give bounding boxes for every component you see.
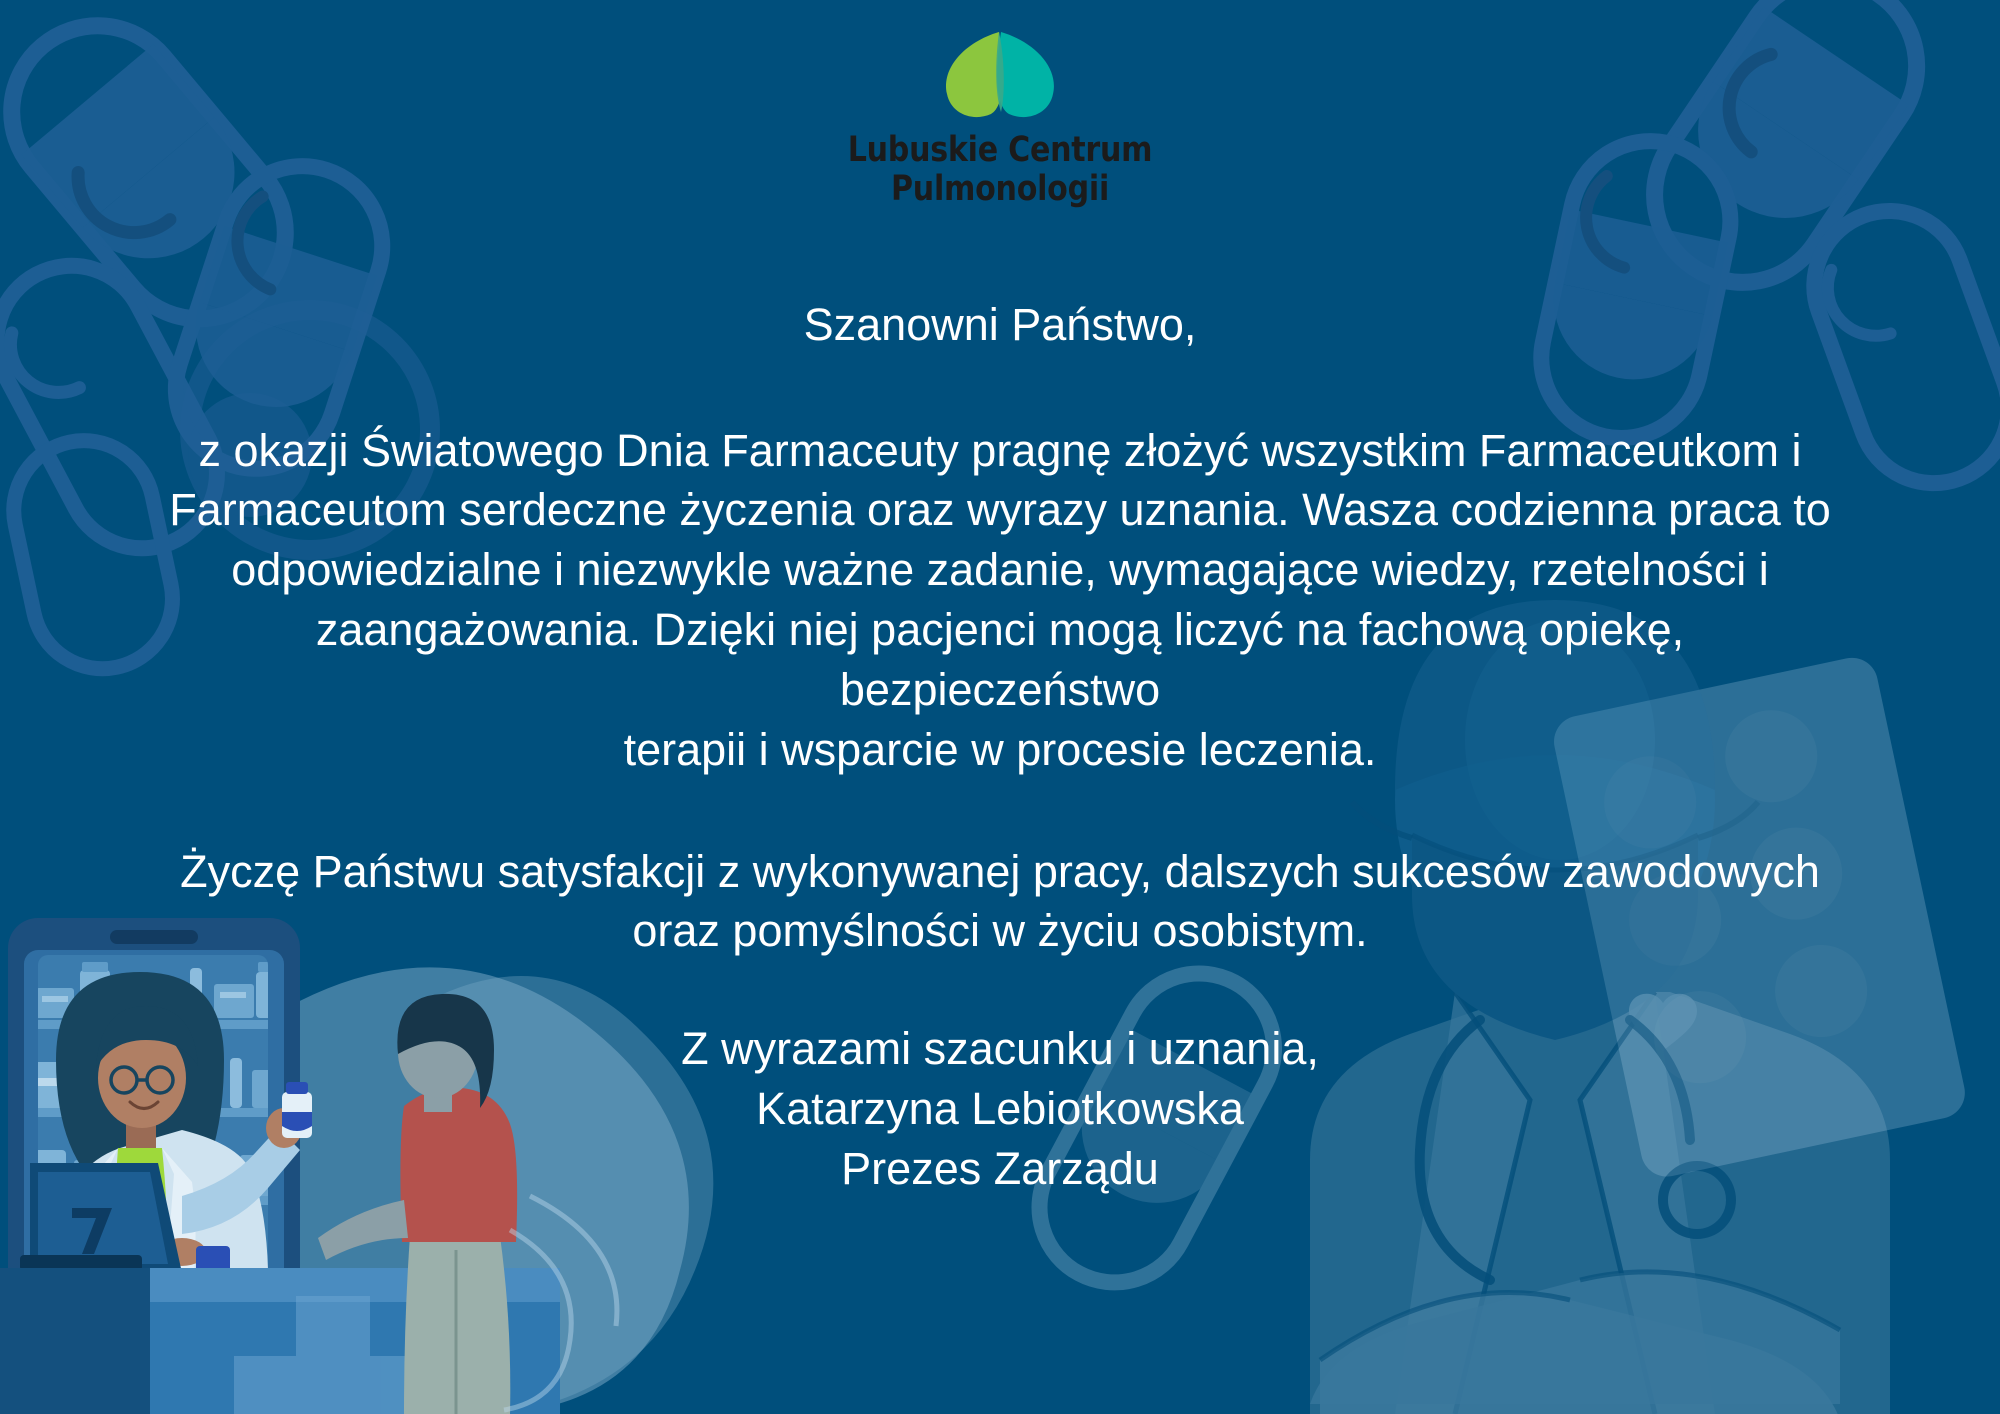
paragraph-1: z okazji Światowego Dnia Farmaceuty prag…: [150, 421, 1850, 780]
paragraph-1-line-1: z okazji Światowego Dnia Farmaceuty prag…: [150, 421, 1850, 481]
logo-line-1: Lubuskie Centrum: [140, 131, 1860, 170]
greeting-card: Lubuskie Centrum Pulmonologii Szanowni P…: [0, 0, 2000, 1414]
paragraph-2: Życzę Państwu satysfakcji z wykonywanej …: [150, 842, 1850, 962]
paragraph-1-line-3: odpowiedzialne i niezwykle ważne zadanie…: [150, 540, 1850, 600]
greeting-line: Szanowni Państwo,: [70, 296, 1930, 355]
paragraph-2-line-1: Życzę Państwu satysfakcji z wykonywanej …: [150, 842, 1850, 902]
paragraph-1-line-4: zaangażowania. Dzięki niej pacjenci mogą…: [150, 600, 1850, 720]
medical-cross-icon: [234, 1296, 432, 1414]
signature-block: Z wyrazami szacunku i uznania, Katarzyna…: [150, 1019, 1850, 1199]
signature-name: Katarzyna Lebiotkowska: [150, 1079, 1850, 1139]
logo-line-2: Pulmonologii: [140, 170, 1860, 209]
logo: Lubuskie Centrum Pulmonologii: [0, 26, 2000, 209]
signature-closing: Z wyrazami szacunku i uznania,: [150, 1019, 1850, 1079]
signature-title: Prezes Zarządu: [150, 1139, 1850, 1199]
paragraph-1-line-5: terapii i wsparcie w procesie leczenia.: [150, 720, 1850, 780]
lubuskie-centrum-pulmonologii-leaf-logo: [935, 26, 1065, 131]
paragraph-2-line-2: oraz pomyślności w życiu osobistym.: [150, 901, 1850, 961]
message-body: Szanowni Państwo, z okazji Światowego Dn…: [70, 296, 1930, 1199]
paragraph-1-line-2: Farmaceutom serdeczne życzenia oraz wyra…: [150, 480, 1850, 540]
